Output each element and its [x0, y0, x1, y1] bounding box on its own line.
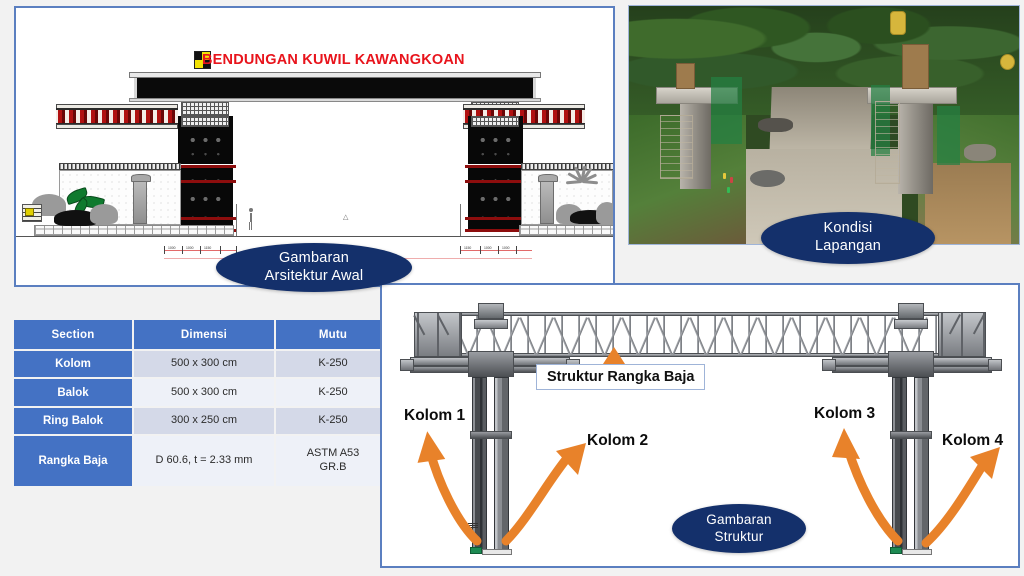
right-safety-netting-b — [937, 106, 960, 166]
left-wall-cornice — [59, 163, 181, 170]
column-header-section: Section — [14, 320, 132, 349]
left-pier-formwork — [676, 63, 696, 89]
cell-section: Ring Balok — [14, 408, 132, 434]
right-planting-group — [556, 196, 615, 226]
callout-gambaran-struktur: Gambaran Struktur — [672, 504, 806, 553]
callout-line-2: Struktur — [706, 529, 771, 545]
left-wall-statue-ornament — [133, 178, 147, 224]
dimension-tick — [220, 246, 221, 254]
ground-line — [16, 236, 615, 237]
dimension-tick — [516, 246, 517, 254]
left-lamp-glow — [25, 208, 34, 216]
palm-tree-shape — [582, 180, 583, 181]
left-scaffolding — [660, 115, 693, 179]
mutu-line-2: GR.B — [320, 461, 347, 473]
dimension-tick — [498, 246, 499, 254]
gate-title-text: BENDUNGAN KUWIL KAWANGKOAN — [202, 52, 465, 68]
callout-line-1: Gambaran — [265, 250, 364, 268]
aggregate-pile — [758, 118, 793, 132]
dimension-label: 1150 — [464, 246, 471, 250]
right-column-red-line-2 — [465, 180, 526, 183]
left-wall-brick-base — [34, 225, 234, 236]
cell-section: Balok — [14, 379, 132, 405]
yellow-silo — [890, 11, 906, 35]
shrub-shape — [90, 204, 118, 224]
dimension-tick — [182, 246, 183, 254]
column-header-dimensi: Dimensi — [134, 320, 274, 349]
dimension-label: 1000 — [502, 246, 510, 250]
shrub-shape — [596, 202, 615, 224]
left-pier-capital-hatch — [181, 102, 229, 116]
left-column-red-line-2 — [175, 180, 236, 183]
gate-beam-black — [134, 78, 536, 98]
slide-canvas: BENDUNGAN KUWIL KAWANGKOAN — [0, 0, 1024, 576]
table-row: Balok 500 x 300 cm K-250 — [14, 379, 390, 405]
specification-table: Section Dimensi Mutu Kolom 500 x 300 cm … — [12, 318, 392, 488]
dimension-tick — [460, 246, 461, 254]
right-column-hatch-band — [471, 116, 519, 127]
arrow-kolom-1 — [413, 429, 477, 541]
column-header-mutu: Mutu — [276, 320, 390, 349]
spoil-heap — [964, 144, 995, 161]
right-wall-cornice — [521, 163, 613, 170]
right-column-red-line-3 — [465, 217, 526, 220]
construction-site-photo — [629, 6, 1019, 244]
left-safety-netting — [711, 77, 742, 144]
left-planting-group — [32, 174, 118, 226]
cell-mutu: K-250 — [276, 379, 390, 405]
callout-line-2: Lapangan — [815, 238, 881, 256]
dimension-line-right — [460, 250, 532, 251]
right-pier-shaft — [898, 104, 933, 194]
cell-mutu: K-250 — [276, 351, 390, 377]
reference-line — [236, 204, 237, 236]
dimension-label: 1000 — [186, 246, 194, 250]
table-row: Ring Balok 300 x 250 cm K-250 — [14, 408, 390, 434]
cell-section: Rangka Baja — [14, 436, 132, 486]
right-wall-brick-base — [519, 225, 615, 236]
dimension-tick — [164, 246, 165, 254]
left-column-lower — [178, 168, 233, 230]
callout-kondisi-lapangan: Kondisi Lapangan — [761, 212, 935, 264]
dimension-label: 1150 — [204, 246, 211, 250]
left-ornament-plate-bottom — [56, 124, 178, 129]
table-header-row: Section Dimensi Mutu — [14, 320, 390, 349]
worker-figure — [723, 173, 726, 179]
arrow-kolom-2 — [506, 443, 586, 541]
callout-line-1: Gambaran — [706, 512, 771, 528]
cell-section: Kolom — [14, 351, 132, 377]
section-marker: △ — [343, 213, 348, 221]
left-column-hatch-band — [181, 116, 229, 127]
worker-figure — [727, 187, 730, 193]
scale-human-figure — [248, 208, 253, 230]
cell-dimensi: D 60.6, t = 2.33 mm — [134, 436, 274, 486]
cell-mutu: K-250 — [276, 408, 390, 434]
right-wall-statue-ornament — [540, 178, 554, 224]
cell-dimensi: 500 x 300 cm — [134, 351, 274, 377]
dimension-label: 1000 — [168, 246, 176, 250]
left-ornament-band — [56, 108, 178, 125]
dimension-tick — [480, 246, 481, 254]
table-row: Kolom 500 x 300 cm K-250 — [14, 351, 390, 377]
cell-dimensi: 500 x 300 cm — [134, 379, 274, 405]
callout-line-2: Arsitektur Awal — [265, 268, 364, 286]
mutu-line-1: ASTM A53 — [307, 447, 360, 459]
right-column-red-line-4 — [465, 229, 526, 232]
cell-dimensi: 300 x 250 cm — [134, 408, 274, 434]
field-photo-panel — [628, 5, 1020, 245]
table-row: Rangka Baja D 60.6, t = 2.33 mm ASTM A53… — [14, 436, 390, 486]
arrow-kolom-3 — [832, 428, 898, 541]
left-column-red-line-3 — [175, 217, 236, 220]
right-column-lower — [468, 168, 523, 230]
specification-table-wrapper: Section Dimensi Mutu Kolom 500 x 300 cm … — [12, 318, 386, 488]
dimension-tick — [200, 246, 201, 254]
concrete-pipe — [750, 170, 785, 187]
dimension-label: 1000 — [484, 246, 492, 250]
reference-line — [460, 204, 461, 236]
right-scaffolding — [875, 101, 900, 184]
right-pier-formwork — [902, 44, 929, 89]
arrow-kolom-4 — [926, 447, 1000, 543]
cell-mutu: ASTM A53GR.B — [276, 436, 390, 486]
dirt-shoulder — [925, 163, 1011, 244]
callout-line-1: Kondisi — [815, 220, 881, 238]
callout-gambaran-arsitektur-awal: Gambaran Arsitektur Awal — [216, 243, 412, 292]
